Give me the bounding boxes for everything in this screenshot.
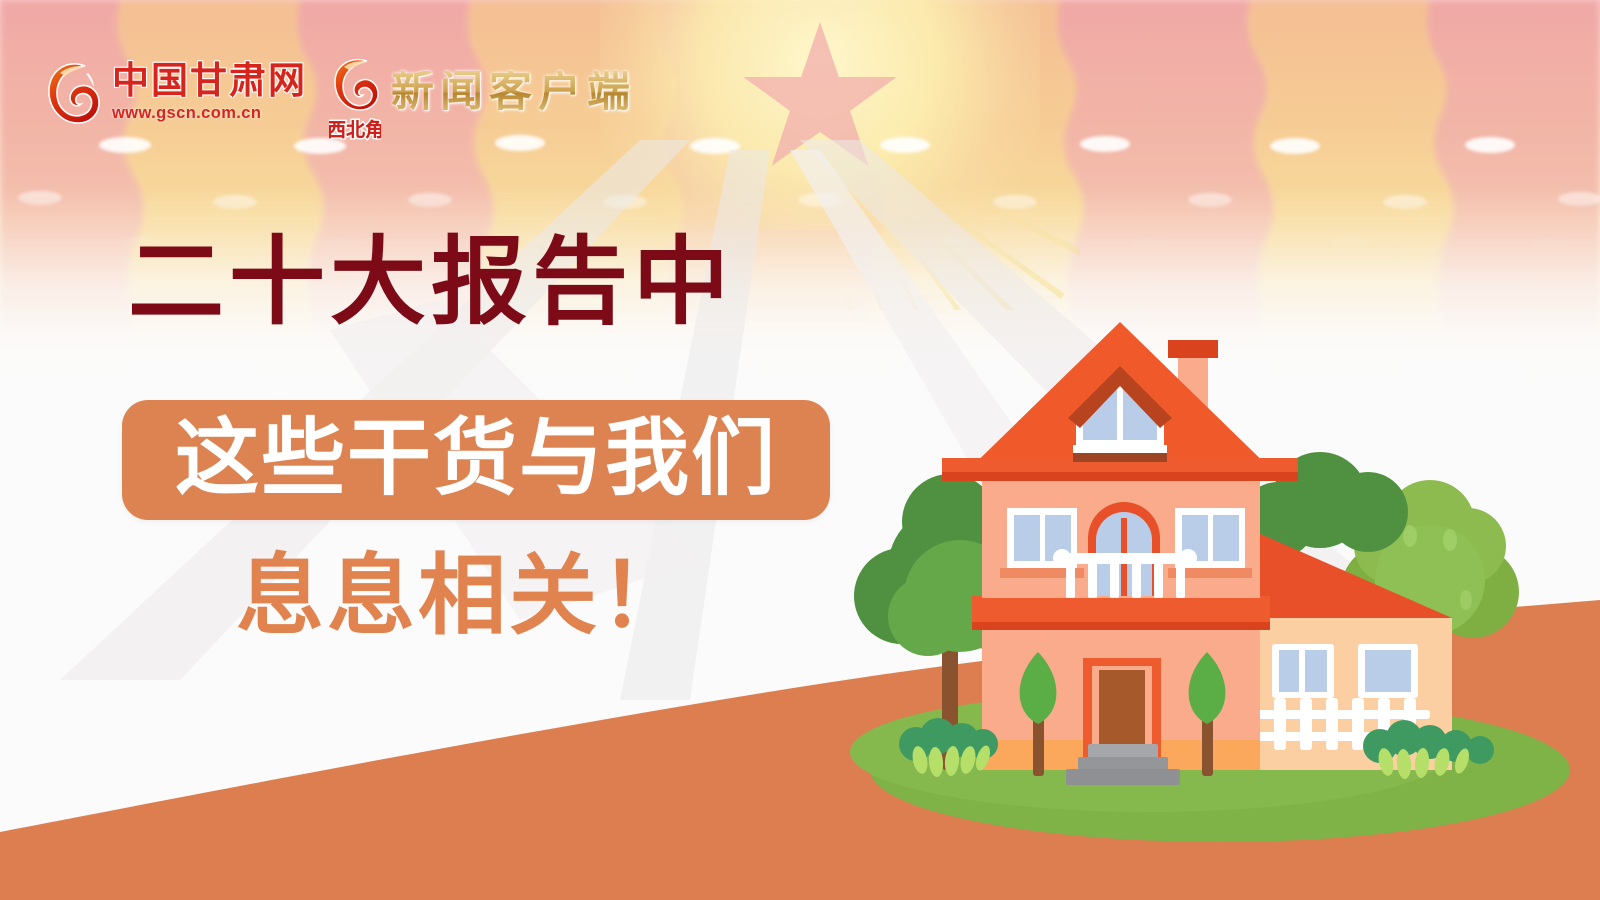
balcony-arched-door: [1088, 502, 1160, 596]
headline-line-3: 息息相关！: [236, 552, 691, 640]
poster-canvas: 中国甘肃网 www.gscn.com.cn: [0, 0, 1600, 900]
xibeijiao-swirl-icon: 西北角 西北角: [329, 56, 381, 128]
headline-line-2: 这些干货与我们: [175, 416, 777, 500]
headline-pill: 这些干货与我们: [122, 400, 830, 520]
logo-gansu-text-block: 中国甘肃网 www.gscn.com.cn: [112, 62, 307, 123]
logo-xibeijiao[interactable]: 西北角 西北角 新闻客户端: [329, 56, 636, 128]
svg-text:西北角: 西北角: [329, 118, 381, 141]
logo-gansu-url: www.gscn.com.cn: [112, 104, 307, 123]
headline-line-1: 二十大报告中: [128, 234, 734, 330]
logo-gansu-name: 中国甘肃网: [112, 62, 307, 99]
logo-bar: 中国甘肃网 www.gscn.com.cn: [44, 46, 636, 138]
logo-gansu-net[interactable]: 中国甘肃网 www.gscn.com.cn: [44, 57, 307, 127]
logo-news-client-name: 新闻客户端: [391, 71, 636, 114]
gscn-swirl-icon: [44, 57, 102, 127]
house-illustration: [820, 300, 1600, 860]
